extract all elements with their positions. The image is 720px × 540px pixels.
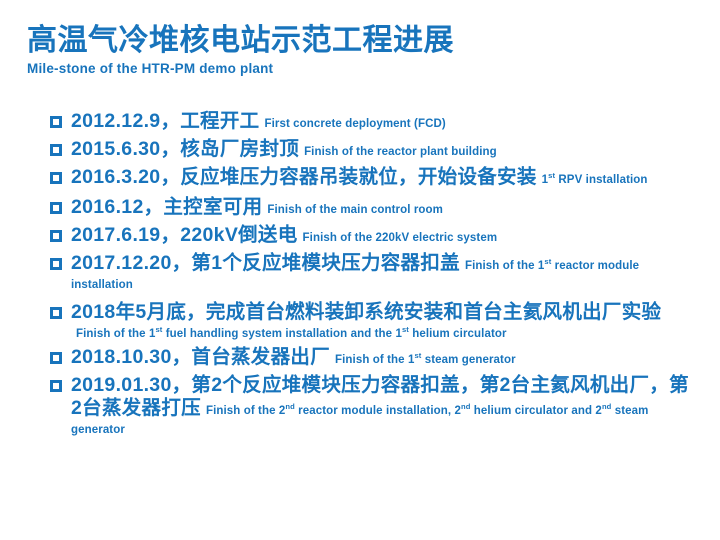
milestone-en: Finish of the 220kV electric system	[303, 232, 498, 244]
milestone-zh: 2018.10.30，首台蒸发器出厂	[71, 346, 330, 368]
milestone-list: 2012.12.9，工程开工First concrete deployment …	[50, 110, 700, 444]
milestone-en-pre: First concrete deployment (FCD)	[264, 118, 445, 130]
slide-header: 高温气冷堆核电站示范工程进展 Mile-stone of the HTR-PM …	[27, 24, 687, 76]
milestone-en: Finish of the 1st fuel handling system i…	[76, 328, 507, 340]
bullet-square-icon	[50, 202, 62, 214]
bullet-square-icon	[50, 380, 62, 392]
bullet-square-icon	[50, 116, 62, 128]
milestone-en-sup2: nd	[461, 402, 470, 411]
milestone-en-post: fuel handling system installation and th…	[162, 328, 402, 340]
milestone-en: Finish of the main control room	[267, 204, 443, 216]
milestone-text: 2016.12，主控室可用Finish of the main control …	[71, 196, 700, 219]
milestone-text: 2018年5月底，完成首台燃料装卸系统安装和首台主氦风机出厂实验Finish o…	[71, 301, 700, 343]
bullet-square-icon	[50, 230, 62, 242]
milestone-en-post: RPV installation	[555, 174, 647, 186]
milestone-text: 2017.6.19，220kV倒送电Finish of the 220kV el…	[71, 224, 700, 247]
page-title: 高温气冷堆核电站示范工程进展	[27, 24, 687, 58]
milestone-en-post: steam generator	[421, 354, 515, 366]
milestone-text: 2015.6.30，核岛厂房封顶Finish of the reactor pl…	[71, 138, 700, 161]
bullet-square-icon	[50, 172, 62, 184]
milestone-en-post2: helium circulator	[409, 328, 507, 340]
milestone-text: 2017.12.20，第1个反应堆模块压力容器扣盖Finish of the 1…	[71, 252, 700, 294]
milestone-en-pre: Finish of the reactor plant building	[304, 146, 497, 158]
bullet-square-icon	[50, 144, 62, 156]
milestone-en-post2: helium circulator and 2	[470, 405, 602, 417]
milestone-en: 1st RPV installation	[542, 174, 648, 186]
list-item: 2019.01.30，第2个反应堆模块压力容器扣盖，第2台主氦风机出厂，第2台蒸…	[50, 374, 700, 439]
list-item: 2015.6.30，核岛厂房封顶Finish of the reactor pl…	[50, 138, 700, 161]
milestone-text: 2018.10.30，首台蒸发器出厂Finish of the 1st stea…	[71, 346, 700, 369]
milestone-en-pre: Finish of the 220kV electric system	[303, 232, 498, 244]
list-item: 2012.12.9，工程开工First concrete deployment …	[50, 110, 700, 133]
milestone-en: Finish of the 1st steam generator	[335, 354, 516, 366]
milestone-en-sup2: st	[402, 325, 409, 334]
page-subtitle: Mile-stone of the HTR-PM demo plant	[27, 61, 687, 76]
bullet-square-icon	[50, 307, 62, 319]
milestone-zh: 2012.12.9，工程开工	[71, 110, 259, 132]
list-item: 2018年5月底，完成首台燃料装卸系统安装和首台主氦风机出厂实验Finish o…	[50, 301, 700, 343]
list-item: 2018.10.30，首台蒸发器出厂Finish of the 1st stea…	[50, 346, 700, 369]
milestone-zh: 2015.6.30，核岛厂房封顶	[71, 138, 299, 160]
list-item: 2017.12.20，第1个反应堆模块压力容器扣盖Finish of the 1…	[50, 252, 700, 294]
list-item: 2016.3.20，反应堆压力容器吊装就位，开始设备安装1st RPV inst…	[50, 166, 700, 189]
milestone-en-pre: Finish of the main control room	[267, 204, 443, 216]
list-item: 2016.12，主控室可用Finish of the main control …	[50, 196, 700, 219]
bullet-square-icon	[50, 258, 62, 270]
milestone-text: 2019.01.30，第2个反应堆模块压力容器扣盖，第2台主氦风机出厂，第2台蒸…	[71, 374, 700, 439]
bullet-square-icon	[50, 352, 62, 364]
milestone-zh: 2017.12.20，第1个反应堆模块压力容器扣盖	[71, 252, 460, 274]
milestone-text: 2016.3.20，反应堆压力容器吊装就位，开始设备安装1st RPV inst…	[71, 166, 700, 189]
milestone-zh: 2016.3.20，反应堆压力容器吊装就位，开始设备安装	[71, 166, 537, 188]
milestone-en-pre: Finish of the 1	[335, 354, 414, 366]
milestone-en: First concrete deployment (FCD)	[264, 118, 445, 130]
milestone-text: 2012.12.9，工程开工First concrete deployment …	[71, 110, 700, 133]
milestone-en-pre: Finish of the 1	[76, 328, 155, 340]
milestone-zh: 2016.12，主控室可用	[71, 196, 262, 218]
milestone-en-pre: Finish of the 2	[206, 405, 285, 417]
slide: 高温气冷堆核电站示范工程进展 Mile-stone of the HTR-PM …	[0, 0, 720, 540]
milestone-en-sup: nd	[285, 402, 294, 411]
milestone-zh: 2017.6.19，220kV倒送电	[71, 224, 298, 246]
milestone-en-pre: Finish of the 1	[465, 260, 544, 272]
milestone-en: Finish of the reactor plant building	[304, 146, 497, 158]
milestone-en-post: reactor module installation, 2	[295, 405, 461, 417]
milestone-zh: 2018年5月底，完成首台燃料装卸系统安装和首台主氦风机出厂实验	[71, 301, 661, 323]
list-item: 2017.6.19，220kV倒送电Finish of the 220kV el…	[50, 224, 700, 247]
milestone-en-sup3: nd	[602, 402, 611, 411]
